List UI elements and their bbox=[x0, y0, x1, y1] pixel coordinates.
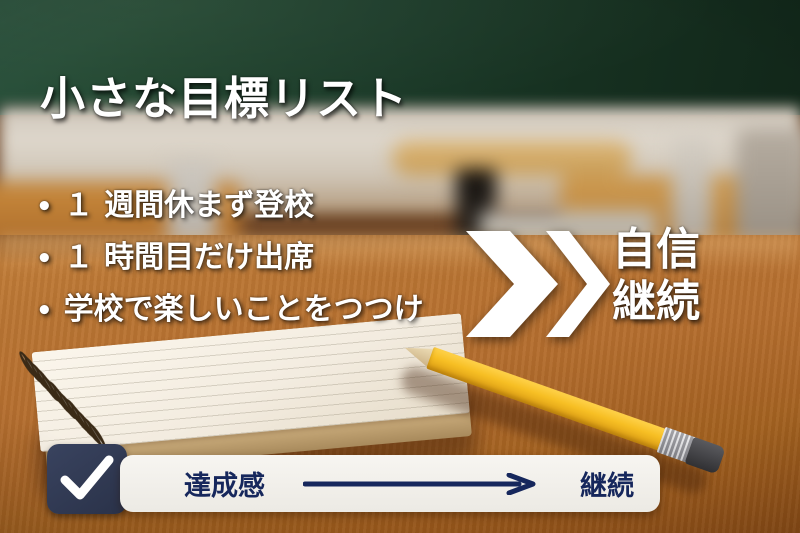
long-arrow-right-icon bbox=[265, 473, 580, 495]
goal-list-item-label: 学校で楽しいことをつつけ bbox=[64, 284, 424, 328]
bullet-dot-icon: • bbox=[36, 246, 53, 272]
outcome-word-confidence: 自信 bbox=[612, 224, 700, 276]
outcome-flow-bar: 達成感 継続 bbox=[120, 455, 660, 512]
poster-title: 小さな目標リスト bbox=[40, 62, 408, 127]
desk-blob bbox=[392, 141, 632, 176]
flow-to-label: 継続 bbox=[580, 464, 634, 503]
goal-list-item: • １ 時間目だけ出席 bbox=[36, 232, 506, 284]
goal-list-item-label: １ 週間休まず登校 bbox=[64, 180, 314, 224]
outcome-words: 自信 継続 bbox=[612, 224, 700, 328]
flow-from-label: 達成感 bbox=[184, 464, 265, 503]
progression-arrows bbox=[466, 231, 616, 337]
check-mark-icon bbox=[60, 455, 114, 503]
checkbox-checked[interactable] bbox=[47, 444, 127, 514]
chevron-right-outline-icon bbox=[540, 231, 610, 337]
goal-list-item-label: １ 時間目だけ出席 bbox=[64, 232, 314, 276]
bullet-dot-icon: • bbox=[36, 194, 53, 220]
goal-list-item: • １ 週間休まず登校 bbox=[36, 180, 506, 232]
poster-canvas: 小さな目標リスト • １ 週間休まず登校 • １ 時間目だけ出席 • 学校で楽し… bbox=[0, 0, 800, 533]
bullet-dot-icon: • bbox=[36, 298, 53, 324]
goal-list-item: • 学校で楽しいことをつつけ bbox=[36, 284, 506, 336]
outcome-word-continuation: 継続 bbox=[612, 276, 700, 328]
goal-list: • １ 週間休まず登校 • １ 時間目だけ出席 • 学校で楽しいことをつつけ bbox=[36, 180, 506, 336]
